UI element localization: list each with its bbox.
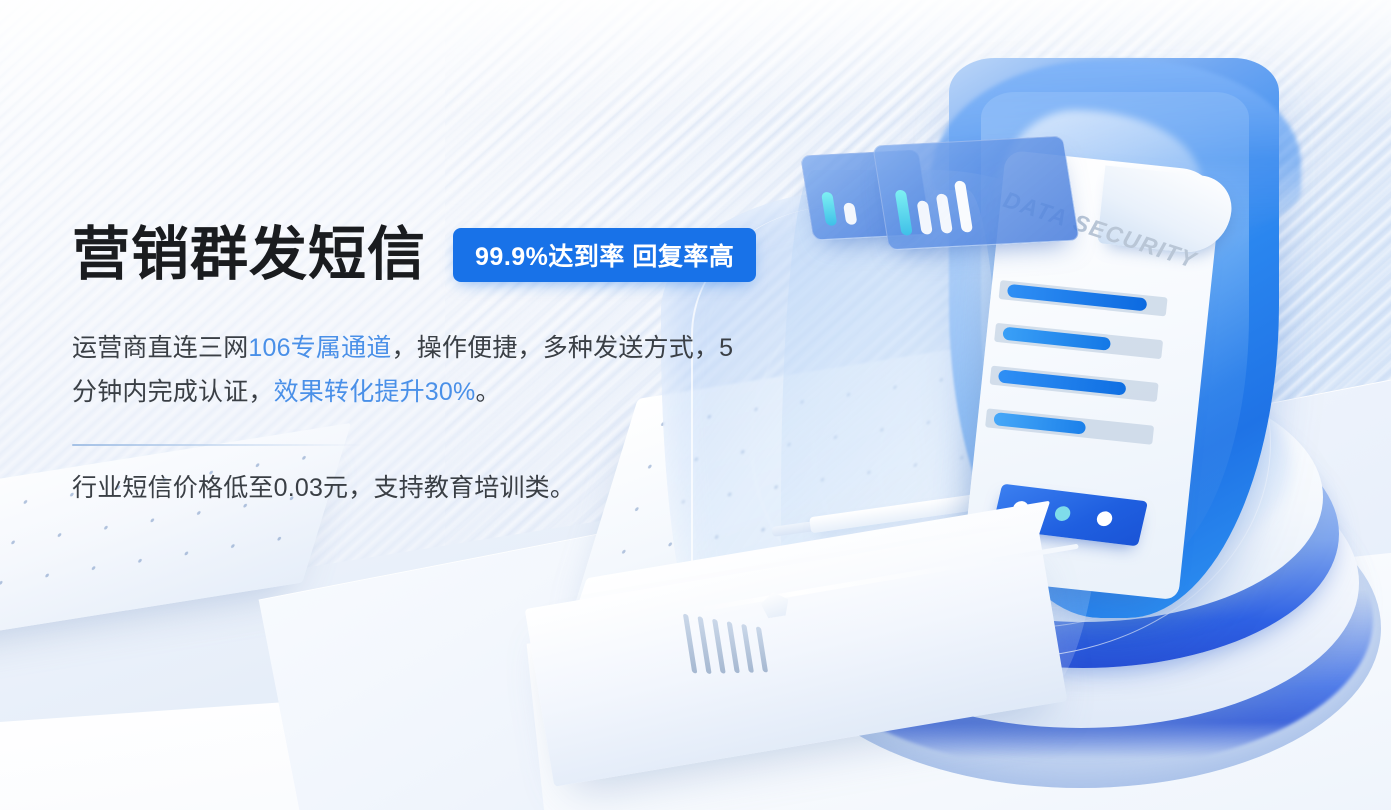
headline-row: 营销群发短信 99.9%达到率 回复率高 (72, 212, 832, 298)
vent-fin (756, 626, 768, 672)
chart-bar (843, 203, 857, 225)
description-text: 运营商直连三网106专属通道，操作便捷，多种发送方式，5分钟内完成认证，效果转化… (72, 326, 752, 414)
description-part-1: 运营商直连三网 (72, 334, 248, 362)
description-part-3: 。 (475, 378, 500, 406)
chip-dot (1053, 505, 1071, 521)
description-highlight-2: 效果转化提升30% (274, 378, 476, 406)
status-badge: 99.9%达到率 回复率高 (453, 228, 756, 282)
vent-fin (727, 621, 740, 673)
document-row (994, 323, 1195, 363)
chart-bar (936, 194, 953, 234)
chart-card-large (872, 136, 1079, 251)
vent-fin (741, 624, 754, 673)
bar-chart-icon (894, 181, 973, 236)
chart-bar (917, 201, 933, 235)
document-rows (983, 280, 1200, 472)
divider (72, 444, 364, 446)
description-highlight-1: 106专属通道 (248, 334, 391, 362)
document-row (990, 366, 1191, 406)
banner-content: 营销群发短信 99.9%达到率 回复率高 运营商直连三网106专属通道，操作便捷… (72, 212, 832, 508)
chart-bar (954, 181, 973, 233)
chart-bar (895, 190, 913, 236)
vent-fin (712, 619, 726, 674)
page-title: 营销群发短信 (72, 226, 426, 284)
marketing-sms-banner: DATA SECURITY (0, 0, 1391, 810)
vent-fin (697, 616, 711, 674)
document-row (985, 408, 1186, 448)
chip-dot (1095, 511, 1113, 527)
subdescription-text: 行业短信价格低至0.03元，支持教育培训类。 (72, 470, 832, 508)
